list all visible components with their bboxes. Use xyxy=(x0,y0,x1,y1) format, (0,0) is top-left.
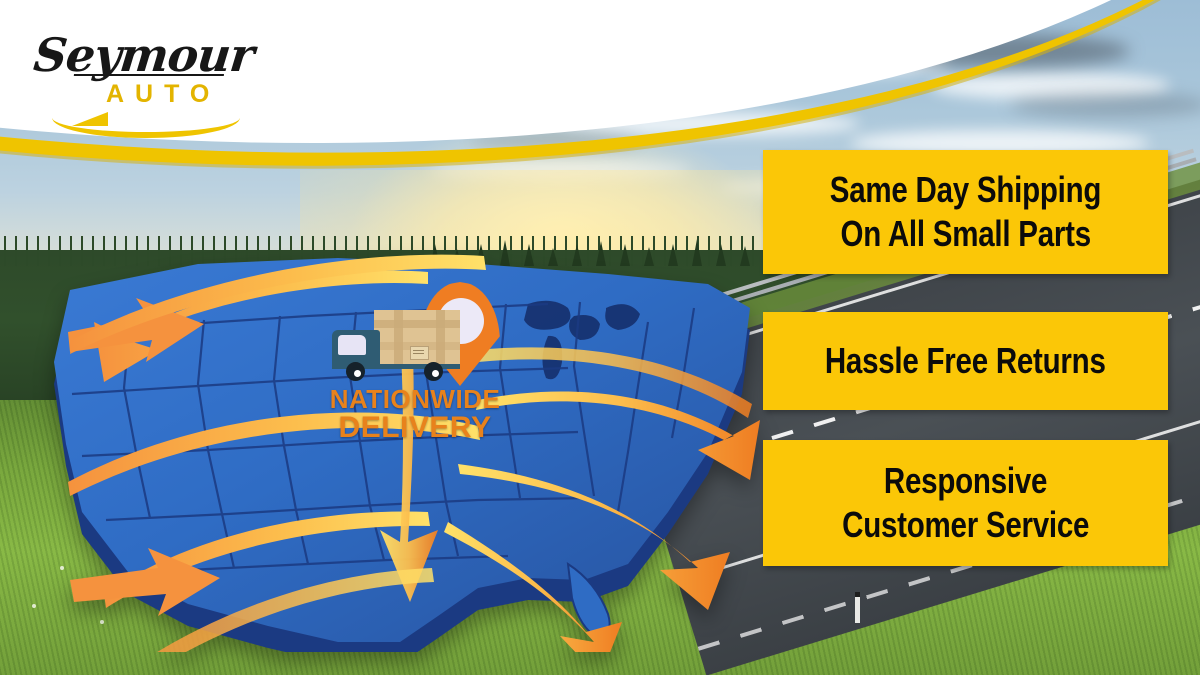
label-line-2: DELIVERY xyxy=(320,413,510,444)
roadside-marker-post xyxy=(855,592,860,623)
feature-1-line-2: On All Small Parts xyxy=(840,212,1090,256)
logo-wordmark: Seymour xyxy=(31,28,256,82)
nationwide-delivery-label: NATIONWIDE DELIVERY xyxy=(320,386,510,443)
truck-wheel-front xyxy=(346,362,365,381)
delivery-truck-icon xyxy=(332,308,468,380)
feature-3-line-1: Responsive xyxy=(884,459,1047,503)
truck-window xyxy=(338,335,366,355)
shipping-label-icon xyxy=(410,346,429,360)
nationwide-delivery-badge: NATIONWIDE DELIVERY xyxy=(320,282,520,452)
brand-logo[interactable]: Seymour AUTO xyxy=(28,20,238,120)
logo-subtitle: AUTO xyxy=(106,80,220,109)
marketing-banner: Seymour AUTO xyxy=(0,0,1200,675)
feature-banner-hassle-free-returns[interactable]: Hassle Free Returns xyxy=(763,312,1168,410)
feature-3-line-2: Customer Service xyxy=(842,503,1089,547)
feature-banner-same-day-shipping[interactable]: Same Day Shipping On All Small Parts xyxy=(763,150,1168,274)
feature-1-line-1: Same Day Shipping xyxy=(830,168,1101,212)
feature-2-line-1: Hassle Free Returns xyxy=(825,339,1106,383)
label-line-1: NATIONWIDE xyxy=(320,386,510,413)
truck-wheel-rear xyxy=(424,362,443,381)
feature-banner-responsive-customer-service[interactable]: Responsive Customer Service xyxy=(763,440,1168,566)
